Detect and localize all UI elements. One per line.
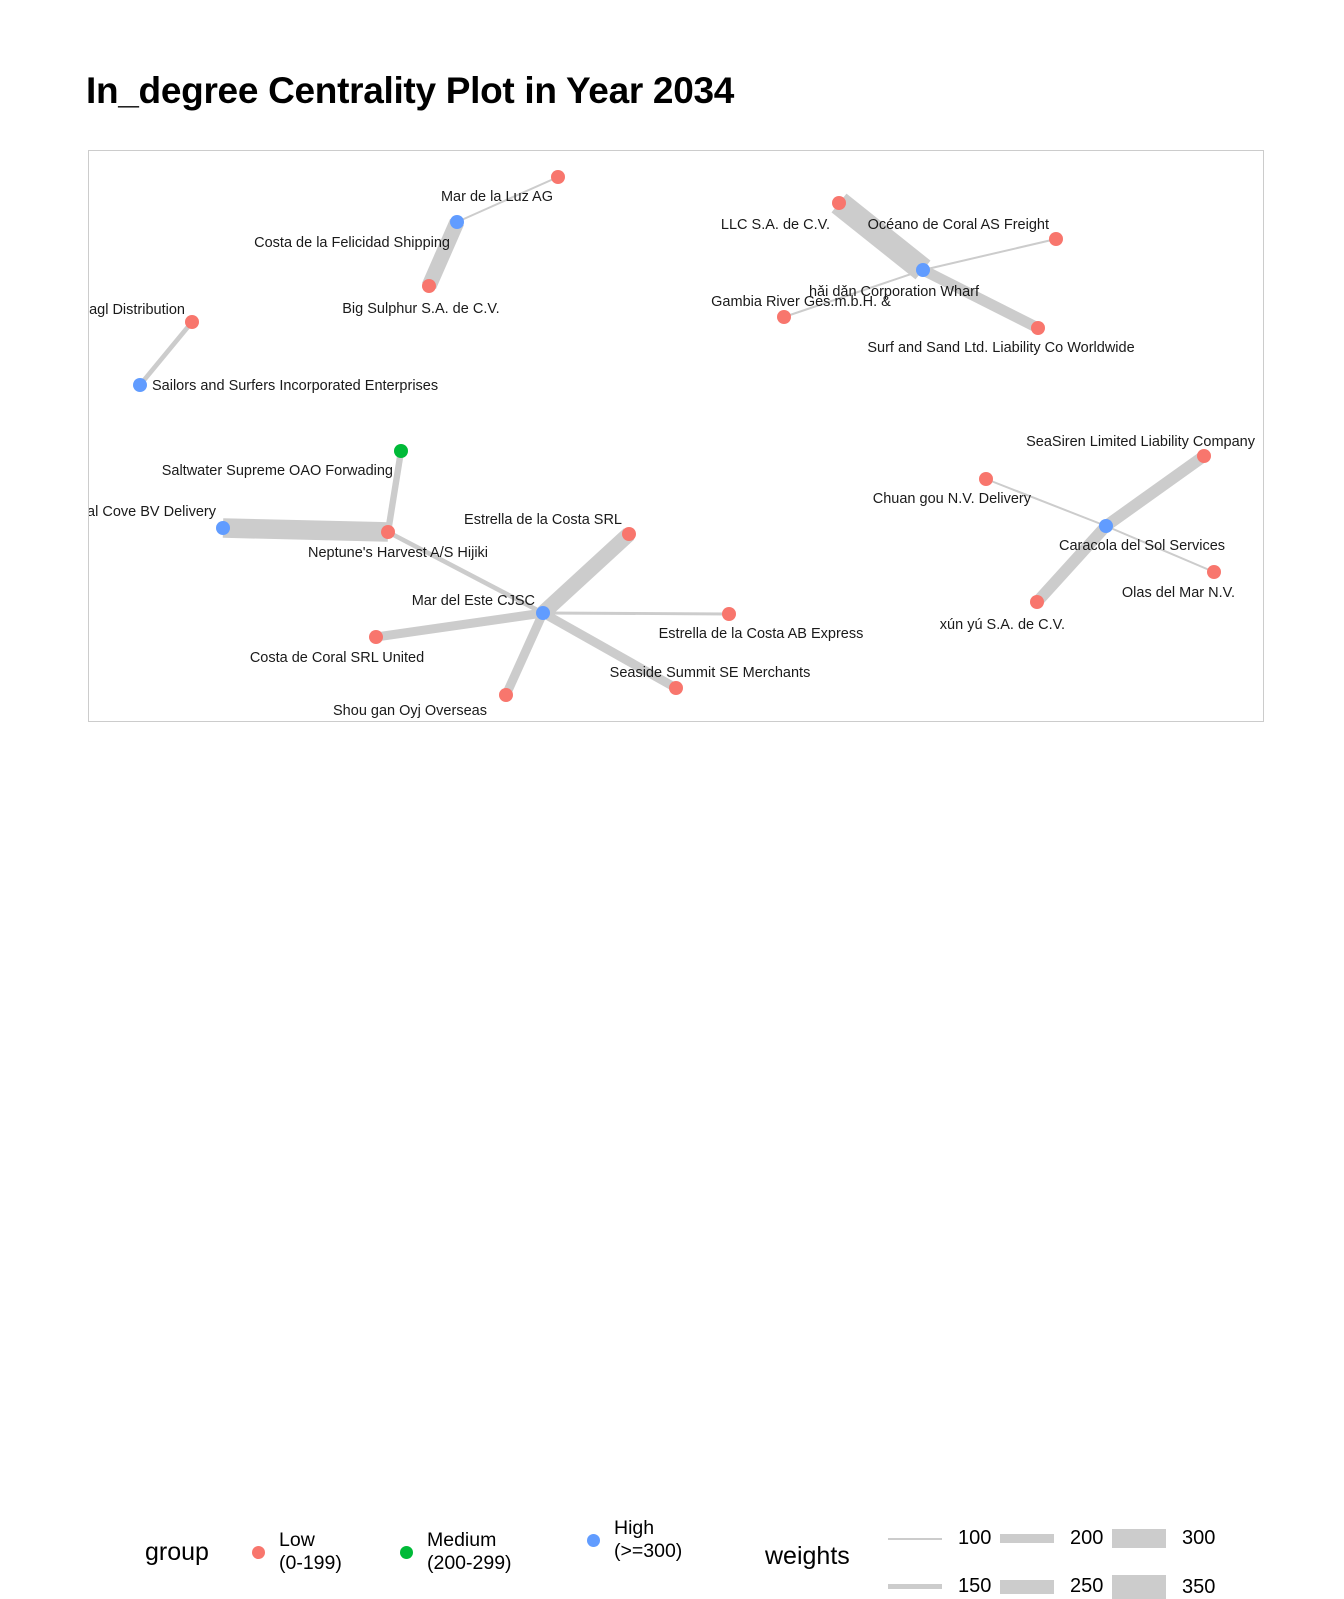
graph-edge xyxy=(839,203,923,270)
graph-node-label: xún yú S.A. de C.V. xyxy=(940,617,1065,633)
graph-node-label: Estrella de la Costa SRL xyxy=(464,512,622,528)
graph-edge xyxy=(543,613,729,614)
weights-legend-title: weights xyxy=(765,1542,850,1571)
graph-node[interactable] xyxy=(369,630,383,644)
legend-weight-item-250[interactable]: 250 xyxy=(1000,1575,1103,1598)
graph-edge xyxy=(923,239,1056,270)
graph-node[interactable] xyxy=(669,681,683,695)
legend-group-item-low[interactable]: Low (0-199) xyxy=(252,1529,342,1575)
graph-node[interactable] xyxy=(1207,565,1221,579)
graph-edge xyxy=(543,534,629,613)
graph-node[interactable] xyxy=(536,606,550,620)
legend-label-medium: Medium (200-299) xyxy=(427,1529,512,1575)
legend-weight-label-200: 200 xyxy=(1070,1527,1103,1550)
legend-weight-label-250: 250 xyxy=(1070,1575,1103,1598)
graph-node[interactable] xyxy=(1099,519,1113,533)
graph-node[interactable] xyxy=(1197,449,1211,463)
graph-node-label: Shou gan Oyj Overseas xyxy=(333,703,487,719)
graph-node[interactable] xyxy=(1031,321,1045,335)
legend-weight-item-150[interactable]: 150 xyxy=(888,1575,991,1598)
node-labels-layer: Mar de la Luz AGCosta de la Felicidad Sh… xyxy=(89,189,1256,719)
legend-weight-item-200[interactable]: 200 xyxy=(1000,1527,1103,1550)
legend-weight-item-100[interactable]: 100 xyxy=(888,1527,991,1550)
graph-node[interactable] xyxy=(979,472,993,486)
legend-weight-label-350: 350 xyxy=(1182,1576,1215,1599)
graph-edge xyxy=(140,322,192,385)
graph-node[interactable] xyxy=(450,215,464,229)
legend-label-high: High (>=300) xyxy=(614,1517,682,1563)
graph-node[interactable] xyxy=(777,310,791,324)
graph-node-label: Coral Cove BV Delivery xyxy=(89,504,217,520)
graph-node-label: Gambia River Ges.m.b.H. & xyxy=(711,294,891,310)
graph-node[interactable] xyxy=(622,527,636,541)
legend-weight-label-300: 300 xyxy=(1182,1527,1215,1550)
graph-node-label: Estrella de la Costa AB Express xyxy=(659,626,864,642)
graph-node[interactable] xyxy=(916,263,930,277)
graph-node-label: Big Sulphur S.A. de C.V. xyxy=(342,301,499,317)
legend-dot-low xyxy=(252,1546,265,1559)
graph-edge xyxy=(376,613,543,637)
legend-group-item-medium[interactable]: Medium (200-299) xyxy=(400,1529,512,1575)
legend-swatch-250 xyxy=(1000,1580,1054,1594)
legend-weight-item-300[interactable]: 300 xyxy=(1112,1527,1215,1550)
legend-label-low: Low (0-199) xyxy=(279,1529,342,1575)
network-graph-panel: Mar de la Luz AGCosta de la Felicidad Sh… xyxy=(88,150,1264,722)
graph-node[interactable] xyxy=(381,525,395,539)
graph-node[interactable] xyxy=(185,315,199,329)
legend-area: group weights Low (0-199) Medium (200-29… xyxy=(0,740,1344,890)
graph-node[interactable] xyxy=(394,444,408,458)
legend-dot-high xyxy=(587,1534,600,1547)
legend-swatch-150 xyxy=(888,1584,942,1589)
graph-node-label: Saltwater Supreme OAO Forwading xyxy=(162,463,393,479)
graph-node[interactable] xyxy=(422,279,436,293)
graph-node-label: Costa de Coral SRL United xyxy=(250,650,424,666)
graph-node-label: SeaSiren Limited Liability Company xyxy=(1026,434,1256,450)
graph-node-label: Costa de la Felicidad Shipping xyxy=(254,235,450,251)
graph-node-label: Neptune's Harvest A/S Hijiki xyxy=(308,545,488,561)
legend-group-item-high[interactable]: High (>=300) xyxy=(587,1517,682,1563)
graph-node[interactable] xyxy=(1049,232,1063,246)
graph-node[interactable] xyxy=(216,521,230,535)
legend-weight-label-100: 100 xyxy=(958,1527,991,1550)
graph-edge xyxy=(1106,456,1204,526)
graph-edge xyxy=(429,222,457,286)
graph-node-label: Caracola del Sol Services xyxy=(1059,538,1225,554)
network-graph-svg[interactable]: Mar de la Luz AGCosta de la Felicidad Sh… xyxy=(89,151,1265,723)
legend-swatch-350 xyxy=(1112,1575,1166,1599)
legend-weight-item-350[interactable]: 350 xyxy=(1112,1575,1215,1599)
graph-node-label: Olas del Mar N.V. xyxy=(1122,585,1235,601)
legend-dot-medium xyxy=(400,1546,413,1559)
graph-node[interactable] xyxy=(1030,595,1044,609)
legend-swatch-200 xyxy=(1000,1534,1054,1543)
graph-node-label: bǐ mù yú Sagl Distribution xyxy=(89,302,185,318)
graph-node-label: Chuan gou N.V. Delivery xyxy=(873,491,1032,507)
legend-swatch-300 xyxy=(1112,1529,1166,1548)
legend-weight-label-150: 150 xyxy=(958,1575,991,1598)
graph-node-label: Surf and Sand Ltd. Liability Co Worldwid… xyxy=(867,340,1134,356)
graph-node[interactable] xyxy=(722,607,736,621)
legend-swatch-100 xyxy=(888,1538,942,1540)
graph-node-label: Mar del Este CJSC xyxy=(412,593,535,609)
graph-node-label: Seaside Summit SE Merchants xyxy=(610,665,811,681)
group-legend-title: group xyxy=(145,1538,209,1567)
graph-node[interactable] xyxy=(499,688,513,702)
page-title: In_degree Centrality Plot in Year 2034 xyxy=(86,70,734,112)
graph-edge xyxy=(223,528,388,532)
graph-node[interactable] xyxy=(133,378,147,392)
graph-node-label: LLC S.A. de C.V. xyxy=(721,217,830,233)
graph-node-label: Mar de la Luz AG xyxy=(441,189,553,205)
graph-node-label: Océano de Coral AS Freight xyxy=(868,217,1049,233)
graph-node[interactable] xyxy=(551,170,565,184)
graph-node-label: Sailors and Surfers Incorporated Enterpr… xyxy=(152,378,438,394)
graph-edge xyxy=(506,613,543,695)
graph-node[interactable] xyxy=(832,196,846,210)
